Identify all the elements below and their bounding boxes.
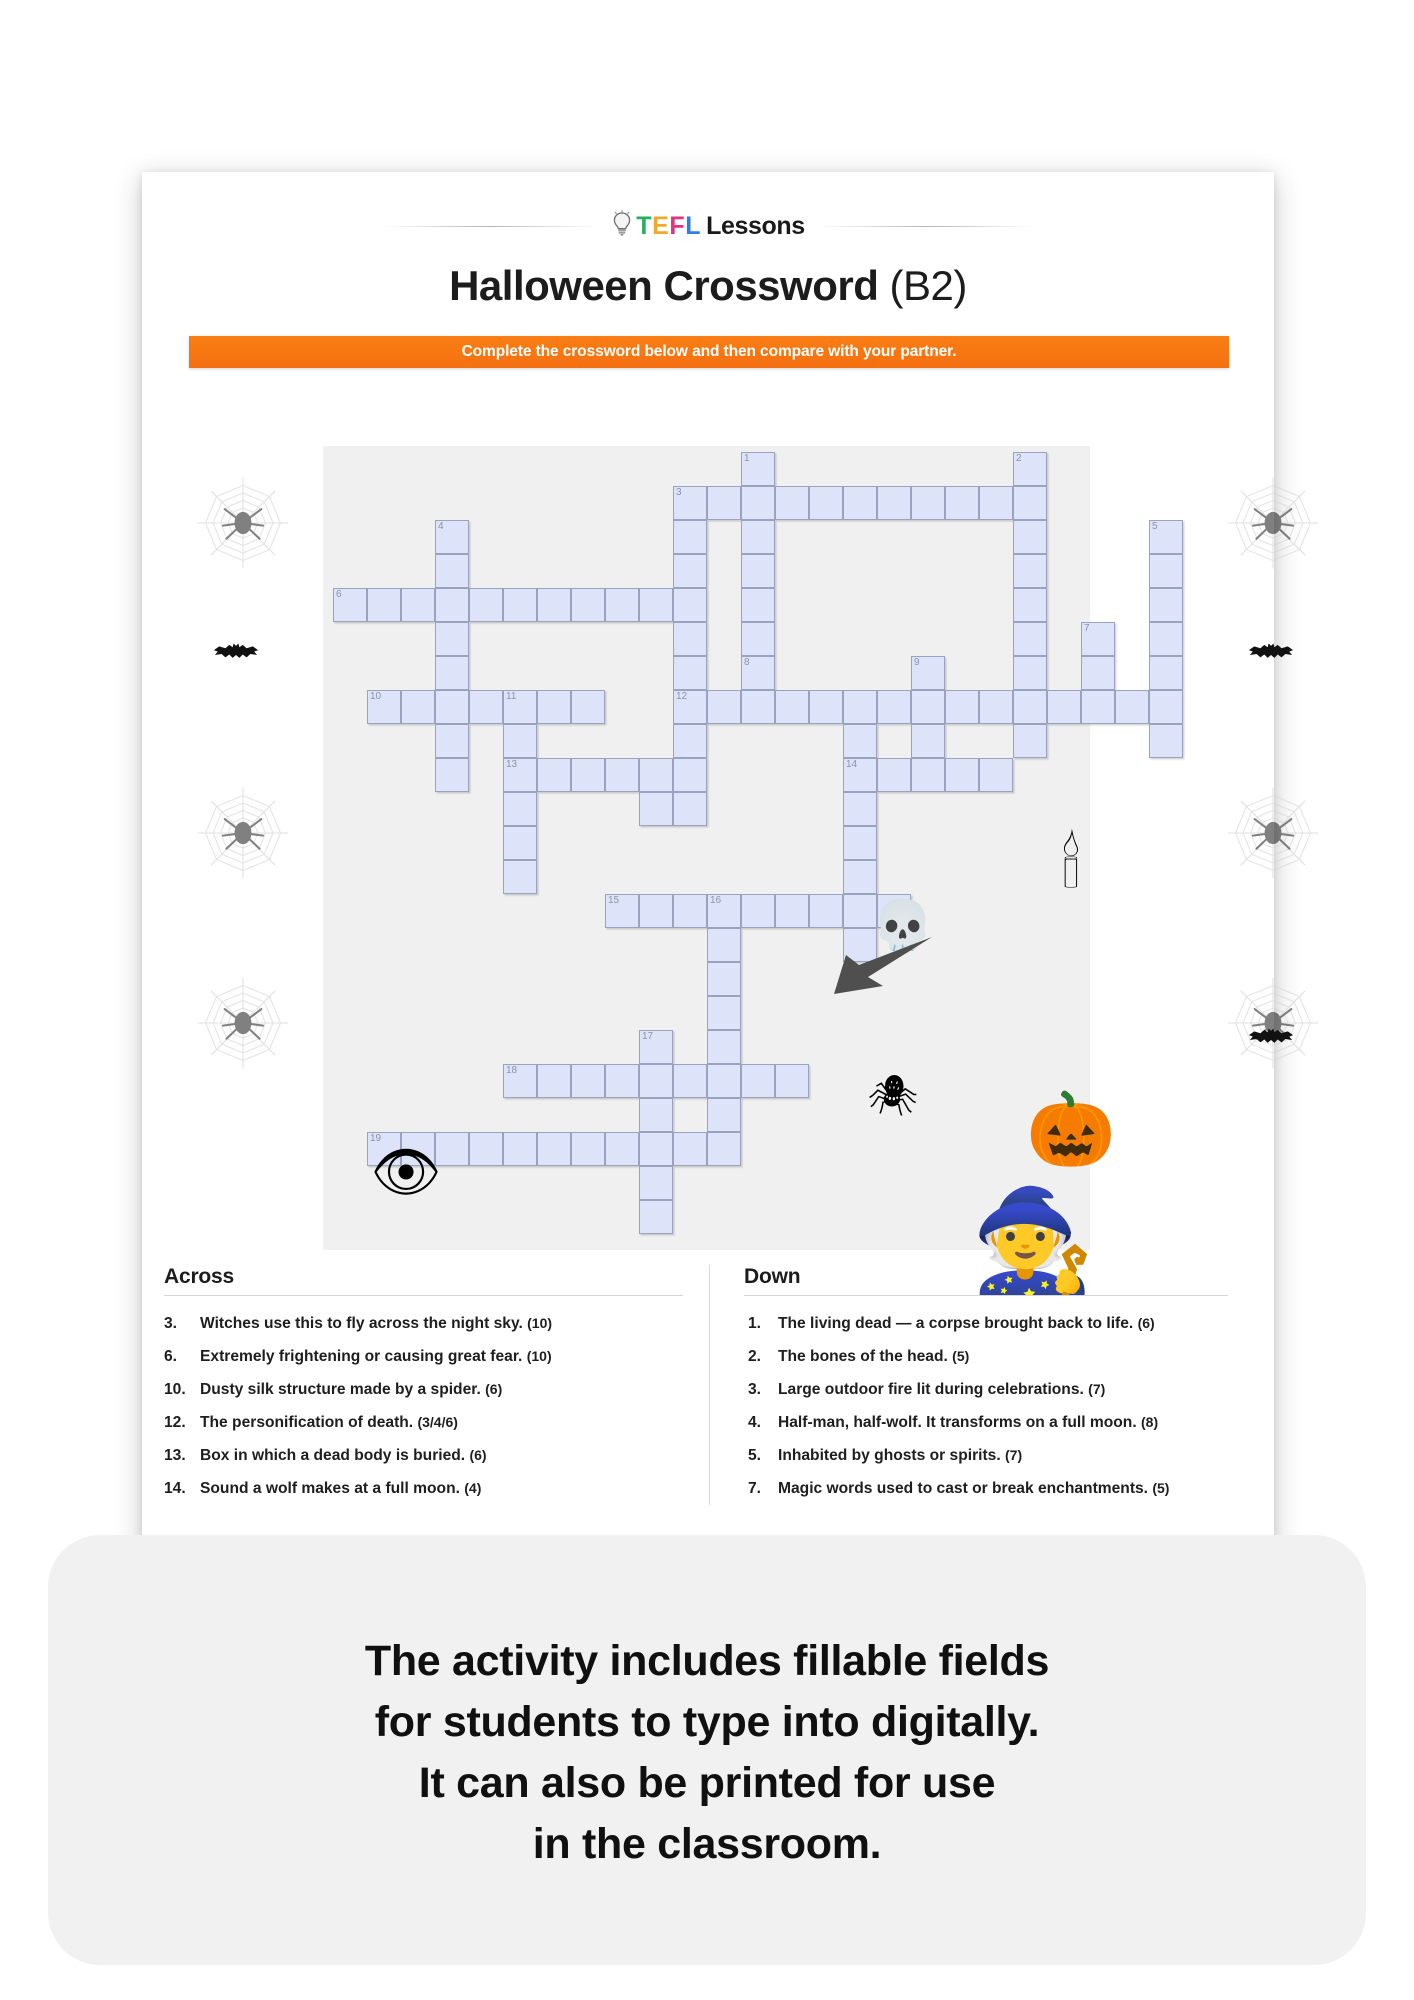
crossword-cell[interactable] (979, 486, 1013, 520)
crossword-cell[interactable] (401, 690, 435, 724)
clue-length: (6) (1138, 1315, 1155, 1331)
crossword-cell[interactable] (843, 724, 877, 758)
clue-row: 3.Large outdoor fire lit during celebrat… (744, 1373, 1228, 1406)
crossword-cell-start-15[interactable]: 15 (605, 894, 639, 928)
crossword-cell[interactable] (877, 894, 911, 928)
clue-number: 2. (744, 1341, 778, 1373)
clue-text: The personification of death. (200, 1414, 417, 1431)
crossword-cell[interactable] (945, 758, 979, 792)
crossword-cell[interactable] (741, 486, 775, 520)
crossword-cell[interactable] (537, 758, 571, 792)
crossword-cell[interactable] (537, 690, 571, 724)
crossword-cell[interactable] (911, 690, 945, 724)
clue-text: The living dead — a corpse brought back … (778, 1315, 1138, 1332)
crossword-cell[interactable] (639, 758, 673, 792)
crossword-cell-start-14[interactable]: 14 (843, 758, 877, 792)
crossword-cell[interactable] (639, 588, 673, 622)
crossword-cell[interactable] (707, 1030, 741, 1064)
crossword-cell[interactable] (741, 1064, 775, 1098)
crossword-cell-number: 5 (1152, 521, 1158, 533)
crossword-cell[interactable] (1081, 656, 1115, 690)
crossword-cell[interactable] (843, 894, 877, 928)
spiderweb-icon (197, 977, 289, 1074)
crossword-cell[interactable] (503, 588, 537, 622)
crossword-cell-start-10[interactable]: 10 (367, 690, 401, 724)
instruction-banner-text: Complete the crossword below and then co… (462, 343, 957, 361)
crossword-cell-number: 11 (506, 691, 516, 703)
clue-row: 6.Extremely frightening or causing great… (164, 1340, 683, 1373)
clue-number: 14. (164, 1473, 200, 1505)
crossword-cell-start-16[interactable]: 16 (707, 894, 741, 928)
clue-number: 6. (164, 1341, 200, 1373)
crossword-cell[interactable] (843, 486, 877, 520)
crossword-cell[interactable] (775, 690, 809, 724)
crossword-cell[interactable] (571, 588, 605, 622)
caption-line: for students to type into digitally. (365, 1692, 1049, 1753)
crossword-cell-number: 18 (506, 1065, 517, 1077)
crossword-cell[interactable] (843, 860, 877, 894)
spiderweb-icon (197, 477, 289, 574)
crossword-cell[interactable] (809, 486, 843, 520)
clue-text: Dusty silk structure made by a spider. (200, 1381, 485, 1398)
worksheet-page: T E F L Lessons Halloween Crossword (B2)… (142, 172, 1274, 1576)
crossword-cell-number: 13 (506, 759, 517, 771)
crossword-cell[interactable] (1149, 690, 1183, 724)
crossword-cell-start-4[interactable]: 4 (435, 520, 469, 554)
crossword-cell[interactable] (1013, 554, 1047, 588)
crossword-cell[interactable] (809, 690, 843, 724)
crossword-cell-start-11[interactable]: 11 (503, 690, 537, 724)
clue-body: The bones of the head. (5) (778, 1340, 969, 1373)
clue-number: 5. (744, 1440, 778, 1472)
clue-text: Half-man, half-wolf. It transforms on a … (778, 1414, 1141, 1431)
crossword-cell[interactable] (639, 1166, 673, 1200)
crossword-cell[interactable] (741, 554, 775, 588)
crossword-cell[interactable] (503, 792, 537, 826)
crossword-cell[interactable] (843, 690, 877, 724)
crossword-cell[interactable] (537, 588, 571, 622)
down-divider (744, 1295, 1228, 1296)
crossword-cell-start-5[interactable]: 5 (1149, 520, 1183, 554)
crossword-cell-number: 9 (914, 657, 920, 669)
tefl-lessons-logo: T E F L Lessons (611, 210, 805, 243)
crossword-cell[interactable] (673, 520, 707, 554)
clue-lists: Across 3.Witches use this to fly across … (164, 1265, 1254, 1505)
page-title-main: Halloween Crossword (449, 262, 878, 309)
crossword-cell[interactable] (741, 690, 775, 724)
logo-letter-l: L (685, 212, 700, 241)
page-title: Halloween Crossword (B2) (142, 262, 1274, 310)
logo-letter-t: T (636, 212, 651, 241)
clue-body: Half-man, half-wolf. It transforms on a … (778, 1406, 1158, 1439)
caption-text: The activity includes fillable fieldsfor… (365, 1631, 1049, 1875)
crossword-cell[interactable] (1149, 622, 1183, 656)
crossword-cell[interactable] (1013, 690, 1047, 724)
brand-header: T E F L Lessons (142, 210, 1274, 243)
crossword-cell-number: 6 (336, 589, 342, 601)
crossword-cell-number: 3 (676, 487, 682, 499)
crossword-cell[interactable] (945, 486, 979, 520)
clue-length: (8) (1141, 1414, 1158, 1430)
crossword-cell[interactable] (707, 962, 741, 996)
down-clue-list: 1.The living dead — a corpse brought bac… (744, 1307, 1228, 1505)
crossword-cell-number: 4 (438, 521, 444, 533)
crossword-cell-start-2[interactable]: 2 (1013, 452, 1047, 486)
across-heading: Across (164, 1265, 683, 1295)
crossword-cell[interactable] (707, 996, 741, 1030)
crossword-cell[interactable] (1013, 656, 1047, 690)
clue-row: 7.Magic words used to cast or break ench… (744, 1472, 1228, 1505)
crossword-cell[interactable] (911, 724, 945, 758)
caption-card: The activity includes fillable fieldsfor… (48, 1535, 1366, 1965)
clue-length: (4) (464, 1480, 481, 1496)
crossword-cell[interactable] (673, 894, 707, 928)
logo-word-lessons: Lessons (706, 212, 805, 241)
crossword-cell[interactable] (503, 1132, 537, 1166)
crossword-cell[interactable] (435, 690, 469, 724)
crossword-cell[interactable] (673, 554, 707, 588)
crossword-cell[interactable] (571, 1064, 605, 1098)
crossword-cell-number: 16 (710, 895, 721, 907)
crossword-cell[interactable] (775, 1064, 809, 1098)
crossword-cell[interactable] (435, 588, 469, 622)
crossword-cell[interactable] (1149, 724, 1183, 758)
crossword-cell[interactable] (741, 520, 775, 554)
crossword-cell[interactable] (673, 588, 707, 622)
crossword-cell[interactable] (673, 792, 707, 826)
crossword-cell-start-9[interactable]: 9 (911, 656, 945, 690)
crossword-cell[interactable] (979, 758, 1013, 792)
crossword-cell-start-3[interactable]: 3 (673, 486, 707, 520)
clue-length: (7) (1005, 1447, 1022, 1463)
crossword-cell[interactable] (605, 758, 639, 792)
crossword-cell[interactable] (571, 1132, 605, 1166)
crossword-cell-number: 7 (1084, 623, 1090, 635)
crossword-grid[interactable]: 12345678910111213141516171819 (323, 446, 1090, 1250)
across-column: Across 3.Witches use this to fly across … (164, 1265, 709, 1505)
crossword-cell[interactable] (469, 690, 503, 724)
crossword-cell[interactable] (775, 894, 809, 928)
clue-row: 12.The personification of death. (3/4/6) (164, 1406, 683, 1439)
crossword-cell[interactable] (979, 690, 1013, 724)
lightbulb-icon (611, 210, 633, 243)
crossword-cell[interactable] (469, 588, 503, 622)
crossword-panel: 12345678910111213141516171819 💀🕯🕷🎃👁🧙 (323, 446, 1090, 1250)
crossword-cell[interactable] (707, 1064, 741, 1098)
caption-line: It can also be printed for use (365, 1753, 1049, 1814)
clue-body: The living dead — a corpse brought back … (778, 1307, 1155, 1340)
crossword-cell[interactable] (707, 928, 741, 962)
clue-text: The bones of the head. (778, 1348, 952, 1365)
crossword-cell[interactable] (911, 486, 945, 520)
clue-text: Witches use this to fly across the night… (200, 1315, 527, 1332)
crossword-cell-number: 17 (642, 1031, 653, 1043)
crossword-cell[interactable] (537, 1064, 571, 1098)
crossword-cell[interactable] (435, 622, 469, 656)
crossword-cell[interactable] (1013, 724, 1047, 758)
crossword-cell[interactable] (571, 758, 605, 792)
bat-icon (1247, 1027, 1295, 1054)
crossword-cell[interactable] (639, 1200, 673, 1234)
crossword-cell[interactable] (945, 690, 979, 724)
crossword-cell[interactable] (741, 622, 775, 656)
crossword-cell[interactable] (1149, 656, 1183, 690)
caption-line: in the classroom. (365, 1814, 1049, 1875)
clue-row: 14.Sound a wolf makes at a full moon. (4… (164, 1472, 683, 1505)
clue-body: Large outdoor fire lit during celebratio… (778, 1373, 1105, 1406)
crossword-cell[interactable] (1013, 622, 1047, 656)
clue-row: 4.Half-man, half-wolf. It transforms on … (744, 1406, 1228, 1439)
crossword-cell[interactable] (639, 894, 673, 928)
crossword-cell[interactable] (877, 486, 911, 520)
logo-letter-e: E (652, 212, 668, 241)
crossword-cell[interactable] (605, 1064, 639, 1098)
crossword-cell-start-8[interactable]: 8 (741, 656, 775, 690)
crossword-cell-number: 15 (608, 895, 619, 907)
crossword-cell[interactable] (673, 622, 707, 656)
crossword-cell[interactable] (673, 1132, 707, 1166)
crossword-cell[interactable] (877, 758, 911, 792)
clue-number: 3. (744, 1374, 778, 1406)
crossword-cell-start-19[interactable]: 19 (367, 1132, 401, 1166)
clue-text: Large outdoor fire lit during celebratio… (778, 1381, 1088, 1398)
crossword-cell[interactable] (1013, 588, 1047, 622)
crossword-cell[interactable] (435, 724, 469, 758)
crossword-cell[interactable] (707, 690, 741, 724)
clue-length: (10) (527, 1315, 552, 1331)
crossword-cell-start-6[interactable]: 6 (333, 588, 367, 622)
clue-number: 12. (164, 1407, 200, 1439)
clue-length: (6) (469, 1447, 486, 1463)
crossword-cell[interactable] (809, 894, 843, 928)
clue-length: (5) (1152, 1480, 1169, 1496)
crossword-cell[interactable] (775, 486, 809, 520)
clue-text: Inhabited by ghosts or spirits. (778, 1447, 1005, 1464)
clue-text: Magic words used to cast or break enchan… (778, 1480, 1152, 1497)
clue-number: 13. (164, 1440, 200, 1472)
crossword-cell-number: 12 (676, 691, 687, 703)
crossword-cell[interactable] (503, 860, 537, 894)
across-divider (164, 1295, 683, 1296)
crossword-cell-number: 14 (846, 759, 857, 771)
clue-row: 3.Witches use this to fly across the nig… (164, 1307, 683, 1340)
crossword-cell[interactable] (639, 1064, 673, 1098)
clue-number: 7. (744, 1473, 778, 1505)
clue-number: 1. (744, 1308, 778, 1340)
clue-number: 10. (164, 1374, 200, 1406)
crossword-cell[interactable] (877, 690, 911, 724)
clue-text: Extremely frightening or causing great f… (200, 1348, 527, 1365)
caption-line: The activity includes fillable fields (365, 1631, 1049, 1692)
crossword-cell[interactable] (1013, 520, 1047, 554)
clue-body: Dusty silk structure made by a spider. (… (200, 1373, 502, 1406)
crossword-cell[interactable] (469, 1132, 503, 1166)
clue-row: 10.Dusty silk structure made by a spider… (164, 1373, 683, 1406)
crossword-cell[interactable] (503, 826, 537, 860)
crossword-cell[interactable] (1149, 588, 1183, 622)
crossword-cell-start-1[interactable]: 1 (741, 452, 775, 486)
logo-letter-f: F (669, 212, 684, 241)
clue-body: Witches use this to fly across the night… (200, 1307, 552, 1340)
clue-number: 4. (744, 1407, 778, 1439)
crossword-cell[interactable] (707, 1098, 741, 1132)
across-clue-list: 3.Witches use this to fly across the nig… (164, 1307, 683, 1505)
crossword-cell[interactable] (639, 1098, 673, 1132)
crossword-cell-start-12[interactable]: 12 (673, 690, 707, 724)
down-heading: Down (744, 1265, 1228, 1295)
crossword-cell[interactable] (707, 486, 741, 520)
crossword-cell[interactable] (707, 1132, 741, 1166)
crossword-cell[interactable] (367, 588, 401, 622)
crossword-cell[interactable] (1047, 690, 1081, 724)
crossword-cell[interactable] (639, 792, 673, 826)
page-title-level: (B2) (890, 262, 967, 309)
crossword-cell-number: 1 (744, 453, 750, 465)
crossword-cell[interactable] (503, 724, 537, 758)
crossword-cell-number: 8 (744, 657, 750, 669)
instruction-banner: Complete the crossword below and then co… (189, 336, 1229, 368)
header-rule-left (382, 226, 597, 227)
clue-row: 2.The bones of the head. (5) (744, 1340, 1228, 1373)
clue-row: 5.Inhabited by ghosts or spirits. (7) (744, 1439, 1228, 1472)
crossword-cell-start-13[interactable]: 13 (503, 758, 537, 792)
clue-length: (10) (527, 1348, 552, 1364)
crossword-cell-number: 10 (370, 691, 381, 703)
crossword-cell[interactable] (741, 588, 775, 622)
crossword-cell[interactable] (673, 656, 707, 690)
crossword-cell-start-18[interactable]: 18 (503, 1064, 537, 1098)
clue-length: (6) (485, 1381, 502, 1397)
crossword-cell[interactable] (537, 1132, 571, 1166)
crossword-cell[interactable] (605, 1132, 639, 1166)
clue-text: Box in which a dead body is buried. (200, 1447, 469, 1464)
crossword-cell[interactable] (605, 588, 639, 622)
clue-body: Inhabited by ghosts or spirits. (7) (778, 1439, 1022, 1472)
spiderweb-icon (1227, 977, 1319, 1074)
crossword-cell[interactable] (673, 724, 707, 758)
crossword-cell[interactable] (571, 690, 605, 724)
crossword-cell[interactable] (843, 826, 877, 860)
crossword-cell[interactable] (435, 758, 469, 792)
crossword-cell[interactable] (843, 792, 877, 826)
crossword-cell-start-17[interactable]: 17 (639, 1030, 673, 1064)
clue-body: Magic words used to cast or break enchan… (778, 1472, 1169, 1505)
crossword-cell[interactable] (639, 1132, 673, 1166)
crossword-cell[interactable] (741, 894, 775, 928)
crossword-cell[interactable] (1013, 486, 1047, 520)
screenshot-root: T E F L Lessons Halloween Crossword (B2)… (0, 0, 1414, 2000)
bat-icon (1247, 642, 1295, 669)
clue-body: The personification of death. (3/4/6) (200, 1406, 458, 1439)
clue-length: (5) (952, 1348, 969, 1364)
crossword-cell[interactable] (673, 758, 707, 792)
mouse-cursor-arrow (828, 933, 938, 998)
clue-row: 1.The living dead — a corpse brought bac… (744, 1307, 1228, 1340)
spiderweb-icon (197, 787, 289, 884)
crossword-cell-number: 2 (1016, 453, 1022, 465)
clue-length: (3/4/6) (417, 1414, 457, 1430)
spiderweb-icon (1227, 477, 1319, 574)
clue-body: Sound a wolf makes at a full moon. (4) (200, 1472, 481, 1505)
crossword-cell-start-7[interactable]: 7 (1081, 622, 1115, 656)
crossword-cell[interactable] (1081, 690, 1115, 724)
clue-number: 3. (164, 1308, 200, 1340)
crossword-cell[interactable] (1149, 554, 1183, 588)
crossword-cell[interactable] (401, 1132, 435, 1166)
crossword-cell[interactable] (1115, 690, 1149, 724)
spiderweb-icon (1227, 787, 1319, 884)
crossword-cell[interactable] (435, 554, 469, 588)
clue-length: (7) (1088, 1381, 1105, 1397)
down-column: Down 1.The living dead — a corpse brough… (709, 1265, 1254, 1505)
crossword-cell[interactable] (435, 656, 469, 690)
bat-icon (212, 642, 260, 669)
crossword-cell[interactable] (673, 1064, 707, 1098)
crossword-cell[interactable] (911, 758, 945, 792)
clue-body: Extremely frightening or causing great f… (200, 1340, 552, 1373)
crossword-cell[interactable] (401, 588, 435, 622)
clue-row: 13.Box in which a dead body is buried. (… (164, 1439, 683, 1472)
crossword-cell-number: 19 (370, 1133, 381, 1145)
clue-text: Sound a wolf makes at a full moon. (200, 1480, 464, 1497)
crossword-cell[interactable] (435, 1132, 469, 1166)
header-rule-right (819, 226, 1034, 227)
clue-body: Box in which a dead body is buried. (6) (200, 1439, 487, 1472)
